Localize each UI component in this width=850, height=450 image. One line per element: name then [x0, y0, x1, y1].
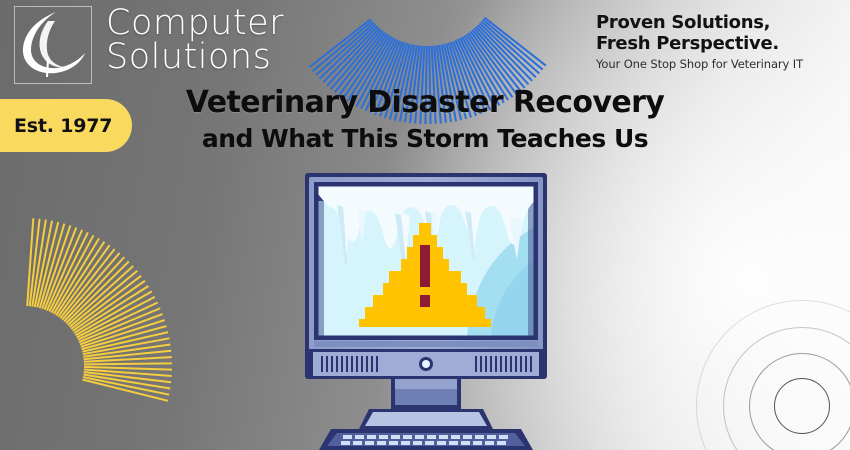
brand-name-line1: Computer	[106, 7, 284, 41]
brand-logo: Computer Solutions	[14, 6, 284, 84]
tagline-line-2: Fresh Perspective.	[596, 33, 832, 54]
headline-line-1: Veterinary Disaster Recovery	[0, 86, 850, 120]
brand-wordmark: Computer Solutions	[106, 7, 284, 75]
tagline-line-1: Proven Solutions,	[596, 12, 832, 33]
tagline-subline: Your One Stop Shop for Veterinary IT	[596, 57, 832, 71]
frozen-computer-monitor-with-warning-icon	[295, 167, 557, 450]
page-title: Veterinary Disaster Recovery and What Th…	[0, 86, 850, 152]
brand-name-line2: Solutions	[106, 41, 284, 75]
corner-ring-2	[749, 353, 850, 450]
veterinary-disaster-recovery-banner: Computer Solutions Est. 1977 Proven Solu…	[0, 0, 850, 450]
headline-line-2: and What This Storm Teaches Us	[0, 125, 850, 153]
tagline-block: Proven Solutions, Fresh Perspective. You…	[596, 12, 832, 71]
concentric-corner-rings	[692, 296, 850, 450]
yellow-radial-burst-arc	[0, 216, 174, 450]
corner-ring-3	[723, 327, 850, 450]
computer-solutions-c-swoosh-logo-icon	[14, 6, 92, 84]
keyboard-icon	[319, 429, 533, 450]
corner-ring-1	[774, 378, 830, 434]
corner-ring-4	[696, 300, 850, 450]
